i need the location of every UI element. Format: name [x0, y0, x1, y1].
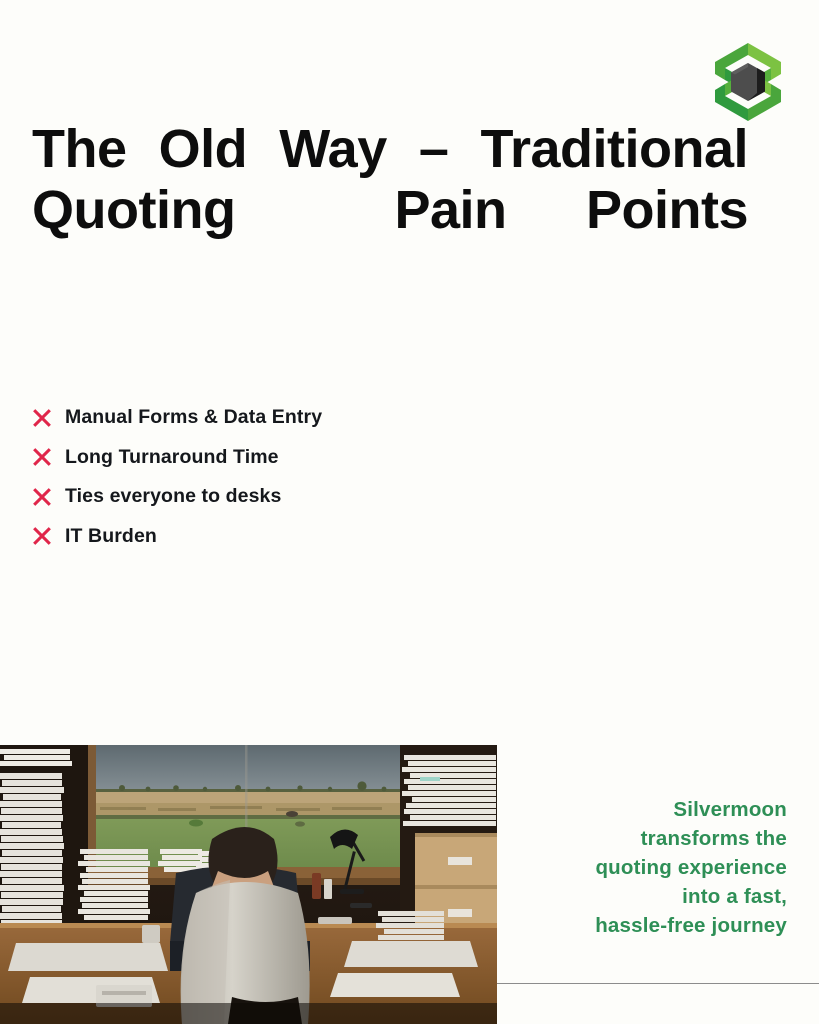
slide-canvas: The Old Way – Traditional Quoting Pain P… — [0, 0, 819, 1024]
footer-divider — [497, 983, 819, 984]
pain-point-item: IT Burden — [30, 517, 322, 557]
tagline-text: Silvermoon transforms the quoting experi… — [500, 795, 787, 940]
pain-point-label: Manual Forms & Data Entry — [65, 406, 322, 429]
pain-point-label: IT Burden — [65, 525, 157, 548]
silvermoon-s-hexagon-logo — [709, 41, 787, 123]
red-x-icon — [30, 485, 54, 509]
pain-point-label: Long Turnaround Time — [65, 446, 279, 469]
red-x-icon — [30, 406, 54, 430]
pain-point-item: Manual Forms & Data Entry — [30, 398, 322, 438]
pain-point-item: Ties everyone to desks — [30, 477, 322, 517]
red-x-icon — [30, 445, 54, 469]
pain-point-label: Ties everyone to desks — [65, 485, 281, 508]
pain-points-list: Manual Forms & Data Entry Long Turnaroun… — [30, 398, 322, 556]
slide-title: The Old Way – Traditional Quoting Pain P… — [32, 119, 748, 302]
red-x-icon — [30, 524, 54, 548]
office-desk-photo — [0, 745, 497, 1024]
pain-point-item: Long Turnaround Time — [30, 438, 322, 478]
